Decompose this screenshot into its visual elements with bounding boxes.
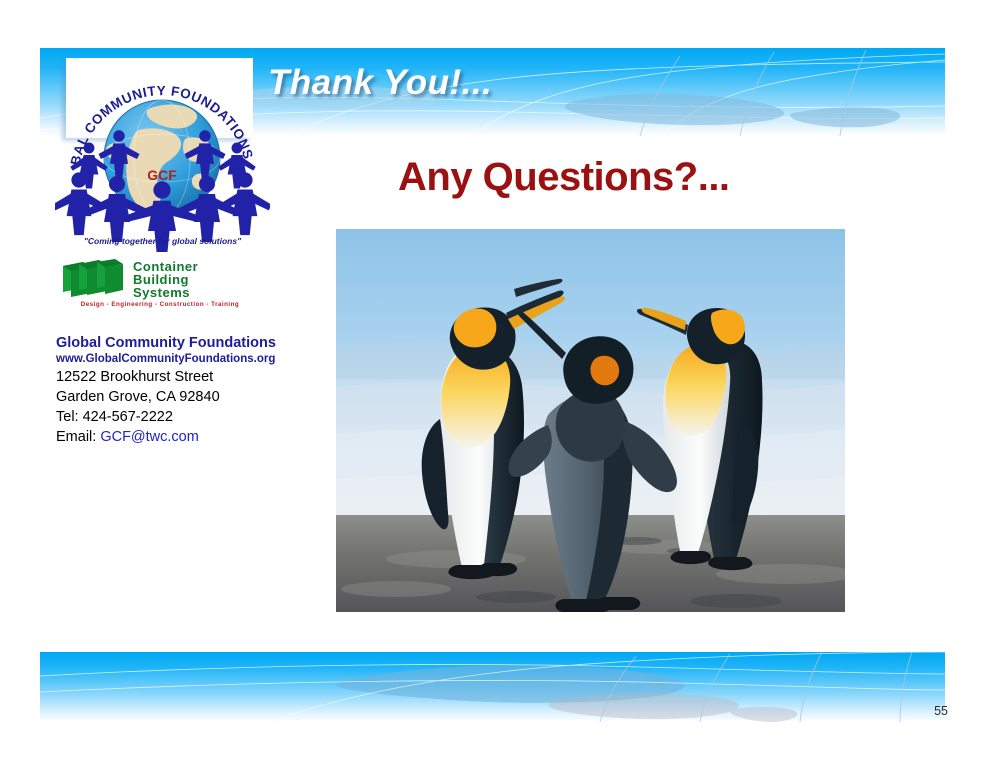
contact-phone: Tel: 424-567-2222 xyxy=(56,407,356,427)
globe-and-people-icon: GLOBAL COMMUNITY FOUNDATIONS.ORG GCF xyxy=(55,52,270,252)
contact-email-label: Email: xyxy=(56,429,96,445)
contact-city-state-zip: Garden Grove, CA 92840 xyxy=(56,387,356,407)
cbs-tagline: Design - Engineering - Construction - Tr… xyxy=(81,301,239,308)
penguin-photo-graphic xyxy=(336,229,845,612)
slide-number: 55 xyxy=(918,704,948,718)
world-map-graphic-bottom xyxy=(40,652,945,722)
contact-email-link[interactable]: GCF@twc.com xyxy=(100,429,199,445)
contact-org-name: Global Community Foundations xyxy=(56,335,356,352)
slide-header-title: Thank You!... xyxy=(268,63,492,103)
contact-email-row: Email: GCF@twc.com xyxy=(56,427,356,447)
slide-canvas: Thank You!... 55 xyxy=(0,0,990,765)
gcf-tagline: "Coming together for global solutions" xyxy=(55,236,270,246)
container-building-systems-logo: Container Building Systems Design - Engi… xyxy=(57,258,263,308)
bottom-banner xyxy=(40,652,945,722)
main-heading: Any Questions?... xyxy=(398,155,730,200)
cbs-line3: Systems xyxy=(133,285,190,300)
contact-block: Global Community Foundations www.GlobalC… xyxy=(56,335,356,447)
gcf-acronym: GCF xyxy=(147,167,177,183)
gcf-logo: GLOBAL COMMUNITY FOUNDATIONS.ORG GCF xyxy=(55,52,270,252)
contact-street: 12522 Brookhurst Street xyxy=(56,367,356,387)
penguin-photo xyxy=(336,229,845,612)
contact-website: www.GlobalCommunityFoundations.org xyxy=(56,352,356,367)
cbs-logo-graphic: Container Building Systems Design - Engi… xyxy=(57,258,263,308)
